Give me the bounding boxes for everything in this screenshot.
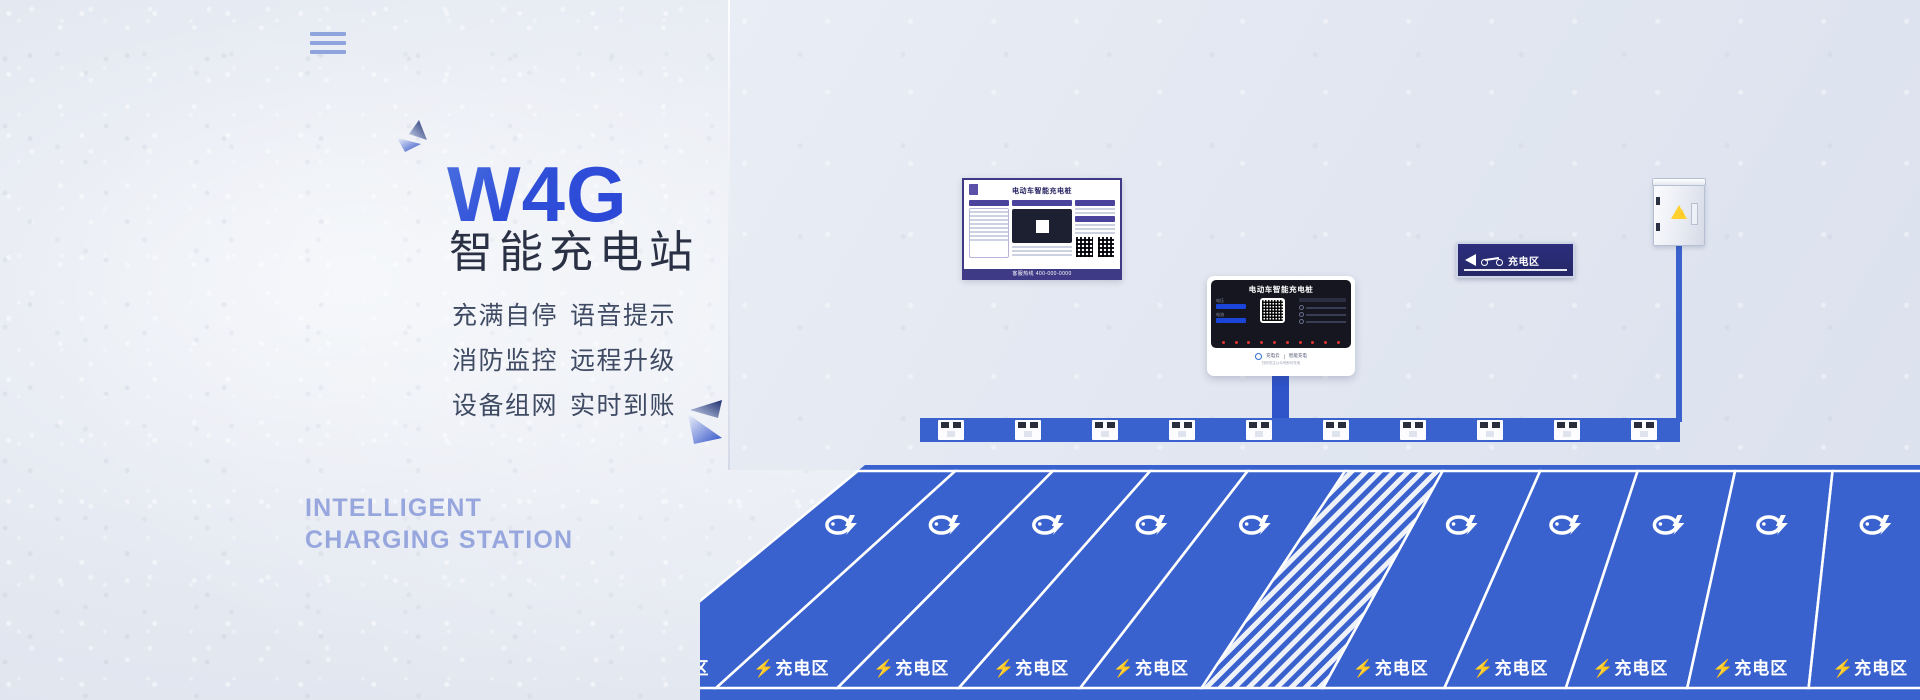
cabinet-vent [1691,203,1698,225]
socket-slot [1024,431,1032,437]
page-subtitle: 智能充电站 [449,216,699,280]
pile-qr-wrap[interactable] [1249,298,1296,326]
socket-slot [1101,431,1109,437]
feature-right: 实时到账 [570,386,676,422]
pile-info-row [1299,305,1346,310]
poster-header: 电动车智能充电桩 [969,184,1115,197]
pile-meter-bar [1216,304,1246,309]
poster-device-qr [1036,220,1049,233]
poster-device-image [1012,209,1072,243]
socket-slot [1255,431,1263,437]
direction-sign: 充电区 [1456,242,1575,278]
pile-brand-alt: 智能充电 [1289,353,1307,359]
pile-brand-name: 充电云 [1266,353,1280,359]
poster-column-mid [1012,200,1072,258]
poster-tag-left [969,200,1009,206]
pile-info-icon [1299,312,1304,317]
pile-info-icon [1299,319,1304,324]
warning-triangle-icon [1671,205,1687,219]
charging-socket[interactable] [938,420,964,440]
banner-root: 电动车智能充电桩 [0,0,1920,700]
parking-bay-label: ⚡充电区 [1353,658,1429,679]
left-arrow-icon [1465,254,1476,266]
pile-meter-bar [1216,318,1246,323]
feature-row: 充满自停语音提示 [452,296,676,332]
socket-slot [947,431,955,437]
pile-brand-icon [1255,353,1262,360]
poster-tag-mid [1012,200,1072,206]
parking-bay-label: ⚡充电区 [753,658,829,679]
charging-socket-rail [920,418,1680,442]
parking-bay-label: ⚡充电区 [1472,658,1548,679]
poster-qr-alipay [1097,236,1116,258]
parking-bay-label: ⚡充电区 [700,658,710,679]
poster-column-left [969,200,1009,258]
poster-flow-lines [970,211,1008,241]
poster-notice-lines [1075,224,1115,234]
poster-logo [969,184,999,195]
charging-socket[interactable] [1477,420,1503,440]
feature-left: 充满自停 [452,296,570,332]
charging-socket[interactable] [1400,420,1426,440]
english-line-1: INTELLIGENT [305,492,573,524]
socket-slot [1640,431,1648,437]
socket-slot [1332,431,1340,437]
charging-socket[interactable] [1015,420,1041,440]
charging-socket[interactable] [1169,420,1195,440]
charging-pile-panel: 电压 电流 [1216,298,1346,326]
cabinet-hinge [1656,223,1660,231]
parking-bay-label: ⚡充电区 [1832,658,1908,679]
parking-bay-label: ⚡充电区 [873,658,949,679]
cabinet-conduit [1676,246,1682,422]
wall-poster: 电动车智能充电桩 [962,178,1122,280]
parking-bay-label: ⚡充电区 [1592,658,1668,679]
poster-body [969,200,1115,258]
charging-pile[interactable]: 电动车智能充电桩 电压 电流 [1207,276,1355,376]
socket-slot [1563,431,1571,437]
charging-socket[interactable] [1092,420,1118,440]
socket-slot [1409,431,1417,437]
parking-bay-label: ⚡充电区 [1712,658,1788,679]
scooter-icon [1481,254,1503,266]
charging-socket[interactable] [1323,420,1349,440]
electrical-cabinet [1653,182,1705,246]
poster-qr-wechat [1075,236,1094,258]
charging-socket[interactable] [1554,420,1580,440]
cabinet-cap [1652,178,1706,186]
poster-mid-lines [1012,246,1072,256]
pile-footer-note: 扫码关注公众号即可充电 [1262,361,1301,366]
charging-socket[interactable] [1631,420,1657,440]
charging-pile-pole [1272,376,1289,420]
pile-info-row [1299,319,1346,324]
parking-floor: ⚡充电区⚡充电区⚡充电区⚡充电区⚡充电区⚡充电区⚡充电区⚡充电区⚡充电区⚡充电区 [700,455,1920,700]
socket-slot [1178,431,1186,437]
parking-bay-label: ⚡充电区 [993,658,1069,679]
feature-left: 消防监控 [452,341,570,377]
scene-wall [728,0,1920,470]
feature-right: 远程升级 [570,341,676,377]
poster-column-right [1075,200,1115,258]
poster-tag-notice [1075,216,1115,222]
pile-brand-row: 充电云 | 智能充电 [1255,353,1307,360]
sign-underline [1464,269,1567,271]
english-line-2: CHARGING STATION [305,524,573,556]
charging-socket[interactable] [1246,420,1272,440]
pile-info-icon [1299,305,1304,310]
poster-tag-price [1075,200,1115,206]
direction-sign-label: 充电区 [1508,253,1540,268]
text-column: W4G 智能充电站 充满自停语音提示消防监控远程升级设备组网实时到账 INTEL… [0,0,700,700]
feature-right: 语音提示 [570,296,676,332]
poster-price-lines [1075,208,1115,214]
pile-info-tag [1299,298,1346,302]
poster-title: 电动车智能充电桩 [1012,186,1072,196]
pile-info-row [1299,312,1346,317]
poster-flow-chart [969,208,1009,258]
parking-bay-label: ⚡充电区 [1113,658,1189,679]
parking-bays-svg: ⚡充电区⚡充电区⚡充电区⚡充电区⚡充电区⚡充电区⚡充电区⚡充电区⚡充电区⚡充电区 [700,455,1920,700]
charging-pile-footer: 充电云 | 智能充电 扫码关注公众号即可充电 [1211,348,1351,370]
feature-left: 设备组网 [452,386,570,422]
feature-row: 设备组网实时到账 [452,386,676,422]
pile-meter-group: 电压 电流 [1216,298,1246,326]
pile-brand-divider: | [1284,354,1285,359]
wall-corner-edge [728,0,730,470]
english-tagline: INTELLIGENT CHARGING STATION [305,492,573,556]
socket-slot [1486,431,1494,437]
poster-qr-group [1075,236,1115,258]
pile-qr-code[interactable] [1260,298,1285,323]
pile-led-indicators [1217,341,1345,344]
pile-info-list [1299,298,1346,326]
feature-row: 消防监控远程升级 [452,341,676,377]
charging-pile-screen: 电动车智能充电桩 电压 电流 [1211,280,1351,348]
charging-pile-title: 电动车智能充电桩 [1216,284,1346,295]
poster-footer: 客服热线 400-000-0000 [964,269,1120,278]
cabinet-hinge [1656,197,1660,205]
feature-list: 充满自停语音提示消防监控远程升级设备组网实时到账 [452,296,676,431]
